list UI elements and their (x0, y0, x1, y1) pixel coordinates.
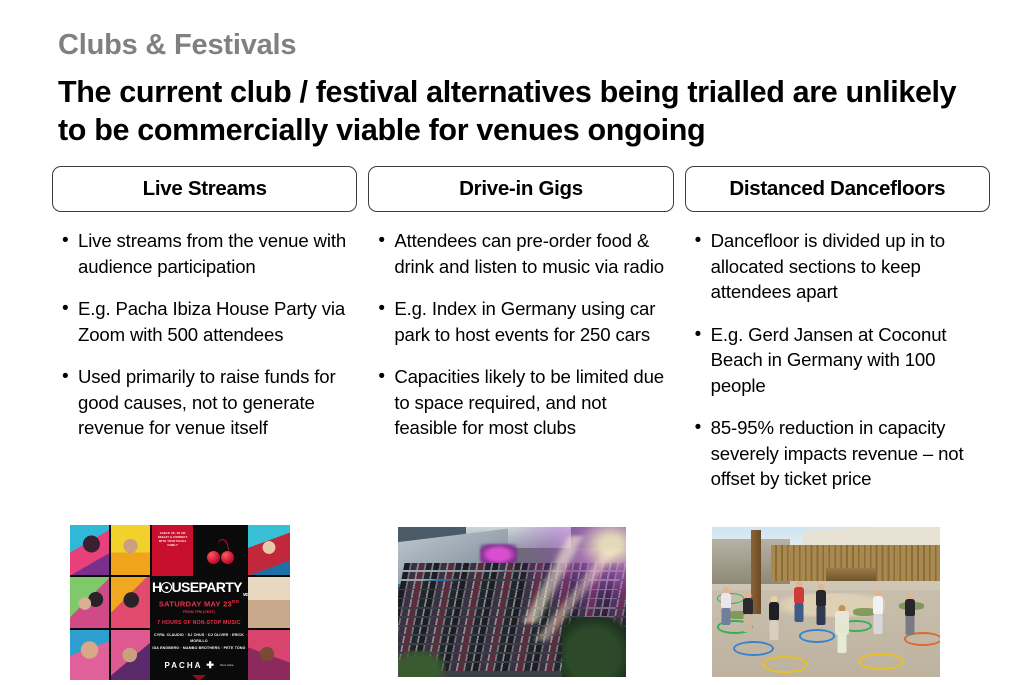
drive-in-scene (398, 527, 626, 677)
bullet-icon: • (378, 228, 394, 279)
list-item: • Used primarily to raise funds for good… (62, 364, 357, 441)
list-item: • E.g. Pacha Ibiza House Party via Zoom … (62, 296, 357, 347)
bullet-list-1: • Attendees can pre-order food & drink a… (368, 228, 673, 458)
poster-title: HUSEPARTYvol.2 (152, 580, 246, 595)
bullet-text: E.g. Gerd Jansen at Coconut Beach in Ger… (711, 322, 990, 399)
list-item: • E.g. Index in Germany using car park t… (378, 296, 673, 347)
list-item: • Dancefloor is divided up in to allocat… (695, 228, 990, 305)
collage-tile (70, 525, 109, 575)
bullet-list-0: • Live streams from the venue with audie… (52, 228, 357, 458)
bullet-icon: • (695, 322, 711, 399)
poster-body: HUSEPARTYvol.2 SATURDAY MAY 23RD FROM 7P… (152, 576, 246, 680)
collage-tile (248, 630, 290, 680)
list-item: • E.g. Gerd Jansen at Coconut Beach in G… (695, 322, 990, 399)
distance-circle-yellow (858, 653, 904, 670)
column-header-pill-2[interactable]: Distanced Dancefloors (685, 166, 990, 212)
slide-eyebrow-title: Clubs & Festivals (58, 30, 296, 62)
distance-circle-blue (733, 641, 774, 656)
slide: Clubs & Festivals The current club / fes… (0, 0, 1010, 685)
bullet-text: 85-95% reduction in capacity severely im… (711, 415, 990, 492)
pacha-house-party-poster-collage: CHECK US, DJ OR DEEJAY & CONNECT WITH YO… (70, 525, 290, 680)
collage-tile (248, 577, 290, 627)
drive-in-concert-aerial-photo (398, 527, 626, 677)
bullet-icon: • (62, 296, 78, 347)
chevron-down-icon (192, 675, 206, 680)
bullet-text: Dancefloor is divided up in to allocated… (711, 228, 990, 305)
poster-lineup-line1: CYRIL CLAUDIO · DJ CHUS · DJ OLIVER · ER… (152, 632, 246, 645)
poster-start-time: FROM 7PM (CEST) (152, 610, 246, 614)
poster-hours: 7 HOURS OF NON-STOP MUSIC (152, 620, 246, 626)
dancefloor-scene (712, 527, 940, 677)
collage-tile (70, 630, 109, 680)
list-item: • Live streams from the venue with audie… (62, 228, 357, 279)
poster-top-strip: CHECK US, DJ OR DEEJAY & CONNECT WITH YO… (152, 525, 246, 576)
bullet-text: Attendees can pre-order food & drink and… (394, 228, 673, 279)
bullet-icon: • (378, 364, 394, 441)
bullet-icon: • (695, 228, 711, 305)
tree-foliage (398, 650, 446, 677)
list-item: • Capacities likely to be limited due to… (378, 364, 673, 441)
distance-circle-blue (799, 629, 835, 643)
poster-cherries-panel (193, 525, 246, 576)
bullet-icon: • (695, 415, 711, 492)
bullet-icon: • (378, 296, 394, 347)
poster-lineup: CYRIL CLAUDIO · DJ CHUS · DJ OLIVER · ER… (152, 632, 246, 652)
poster-brand: PACHA ✚ Ibiza Italia (152, 660, 246, 671)
column-header-label-0: Live Streams (143, 177, 267, 201)
bullet-icon: • (62, 228, 78, 279)
poster-date: SATURDAY MAY 23RD (152, 599, 246, 609)
slide-headline: The current club / festival alternatives… (58, 73, 963, 150)
poster-red-panel: CHECK US, DJ OR DEEJAY & CONNECT WITH YO… (152, 525, 193, 576)
bullet-text: Capacities likely to be limited due to s… (394, 364, 673, 441)
collage-right-grid (248, 525, 290, 680)
distanced-dancefloor-photo (712, 527, 940, 677)
poster-title-part2: USE (172, 579, 199, 595)
bullet-text: E.g. Index in Germany using car park to … (394, 296, 673, 347)
collage-tile (111, 577, 150, 627)
list-item: • 85-95% reduction in capacity severely … (695, 415, 990, 492)
bullet-icon: • (62, 364, 78, 441)
collage-left-grid (70, 525, 150, 680)
poster-date-text: SATURDAY MAY 23 (159, 599, 232, 608)
bullet-text: Live streams from the venue with audienc… (78, 228, 357, 279)
list-item: • Attendees can pre-order food & drink a… (378, 228, 673, 279)
picnic-bench (826, 568, 876, 582)
event-poster: CHECK US, DJ OR DEEJAY & CONNECT WITH YO… (152, 525, 246, 680)
column-header-pill-1[interactable]: Drive-in Gigs (368, 166, 673, 212)
collage-tile (248, 525, 290, 575)
collage-layout: CHECK US, DJ OR DEEJAY & CONNECT WITH YO… (70, 525, 290, 680)
bullet-text: Used primarily to raise funds for good c… (78, 364, 357, 441)
collage-tile (111, 630, 150, 680)
red-cross-icon: ✚ (206, 660, 216, 671)
poster-brand-sub: Ibiza Italia (220, 663, 234, 667)
column-header-label-1: Drive-in Gigs (459, 177, 583, 201)
collage-tile (70, 577, 109, 627)
tree-foliage (562, 617, 626, 677)
column-header-label-2: Distanced Dancefloors (729, 177, 945, 201)
bullet-text: E.g. Pacha Ibiza House Party via Zoom wi… (78, 296, 357, 347)
poster-lineup-line2: IDA ENGBERG · MAMBO BROTHERS · PETE TONG (152, 645, 246, 652)
poster-date-suffix: RD (232, 599, 239, 604)
column-header-pill-0[interactable]: Live Streams (52, 166, 357, 212)
bullet-list-2: • Dancefloor is divided up in to allocat… (685, 228, 990, 509)
power-ring-icon (161, 582, 172, 593)
collage-tile (111, 525, 150, 575)
poster-title-part3: PARTY (199, 579, 242, 595)
distance-circle-yellow (762, 656, 808, 673)
poster-banner-text: CHECK US, DJ OR DEEJAY & CONNECT WITH YO… (154, 532, 190, 548)
poster-brand-name: PACHA (165, 661, 203, 670)
